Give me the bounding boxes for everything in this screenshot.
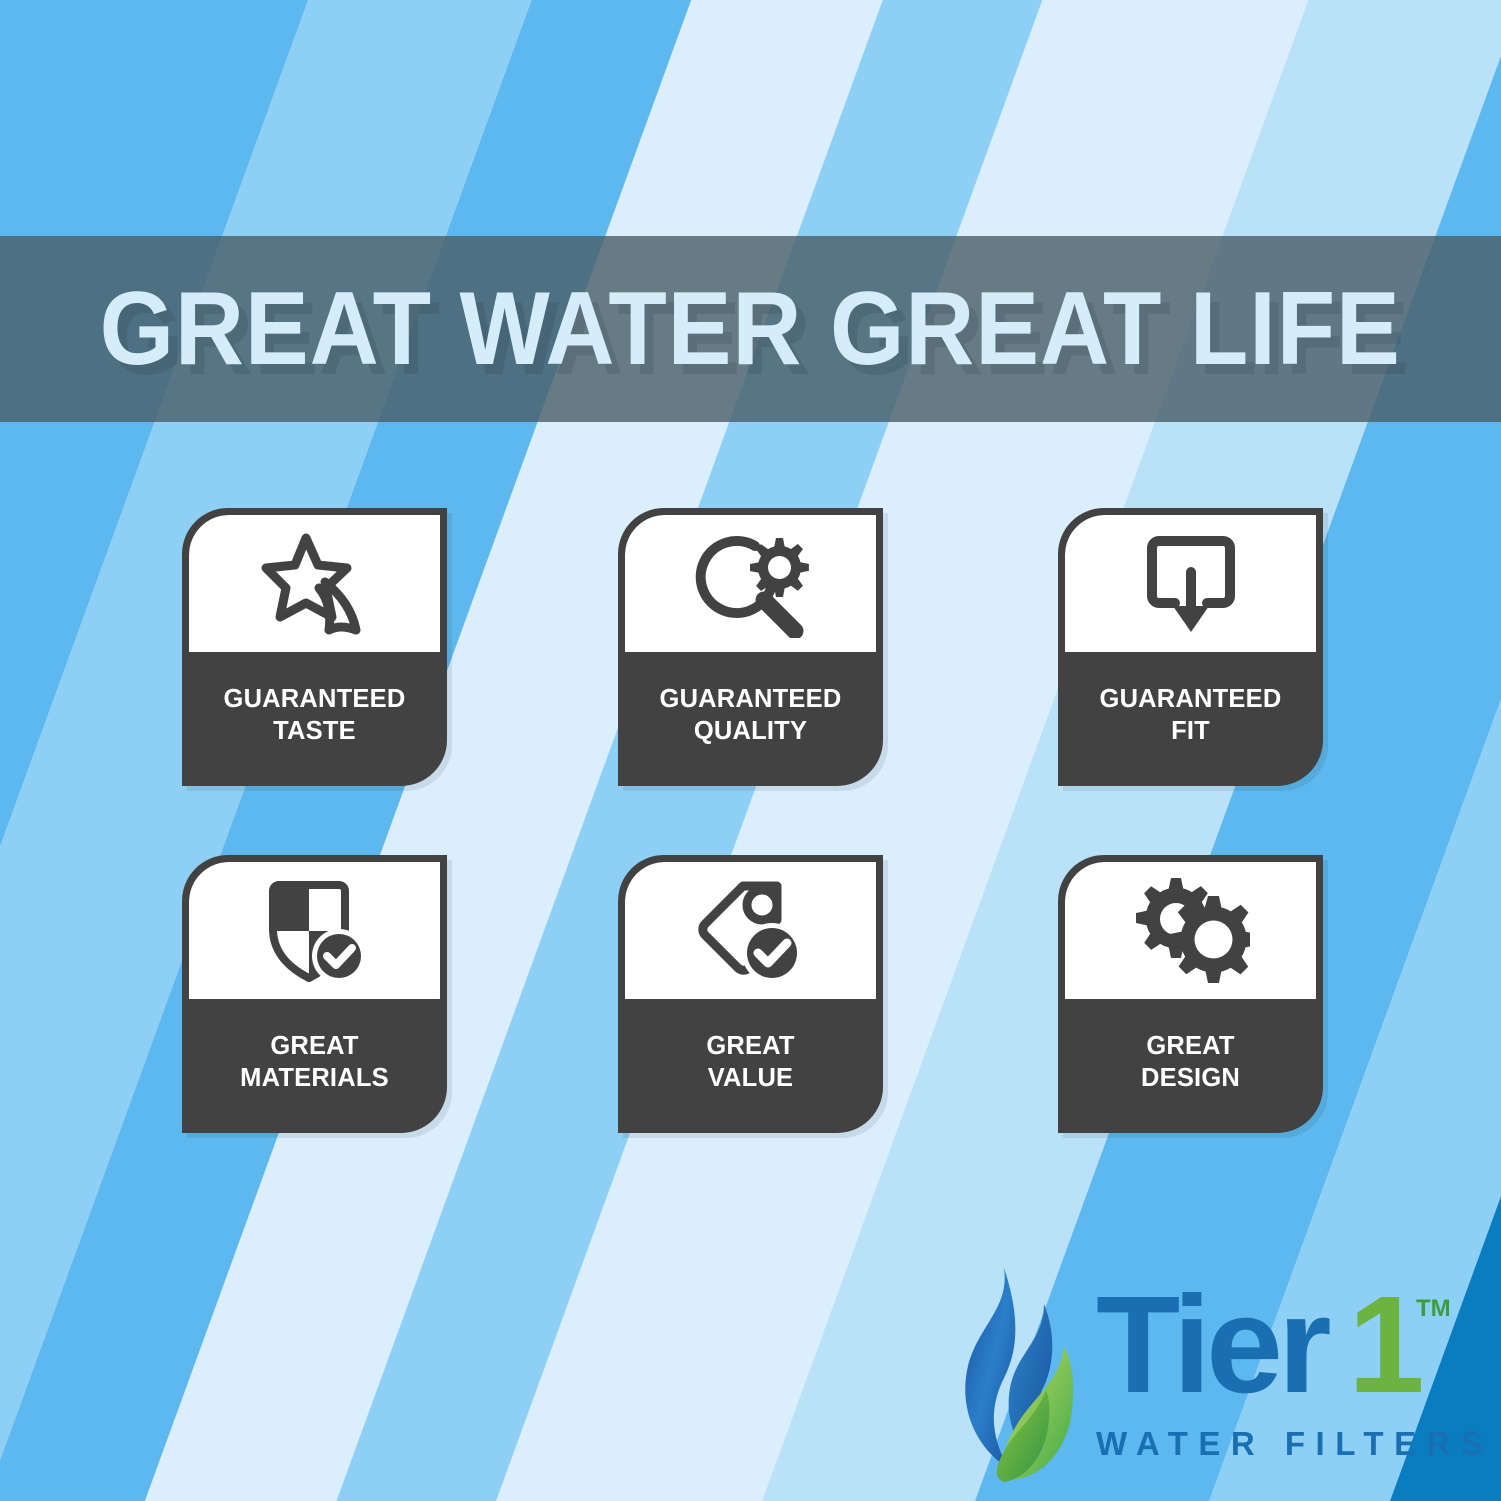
badge-great-materials[interactable]: GREAT MATERIALS xyxy=(182,855,447,1133)
water-flame-leaf-droplet-icon xyxy=(952,1262,1088,1484)
svg-text:TM: TM xyxy=(1416,1295,1451,1322)
badge-row-2: GREAT MATERIALS xyxy=(0,855,1501,1202)
badge-label-line1: GREAT xyxy=(1146,1031,1234,1062)
badge-label: GUARANTEED QUALITY xyxy=(625,652,876,779)
headline-banner: GREAT WATER GREAT LIFE xyxy=(0,236,1501,422)
badge-label-line1: GREAT xyxy=(270,1031,358,1062)
badge-label-line1: GUARANTEED xyxy=(660,684,842,715)
badge-label: GUARANTEED TASTE xyxy=(189,652,440,779)
badge-icon-panel xyxy=(625,515,876,652)
badge-label: GUARANTEED FIT xyxy=(1065,652,1316,779)
badge-row-1: GUARANTEED TASTE xyxy=(0,508,1501,855)
headline-text: GREAT WATER GREAT LIFE xyxy=(100,277,1401,381)
logo-tagline: WATER FILTERS xyxy=(1096,1425,1495,1462)
tier1-logo: Tier 1 TM WATER FILTERS xyxy=(952,1262,1452,1484)
price-tag-check-icon xyxy=(694,877,808,985)
badge-label-line2: FIT xyxy=(1171,716,1210,747)
gears-icon xyxy=(1132,877,1250,985)
badge-icon-panel xyxy=(189,862,440,999)
badge-icon-panel xyxy=(1065,862,1316,999)
badge-label-line2: DESIGN xyxy=(1141,1063,1240,1094)
badge-label-line1: GUARANTEED xyxy=(1100,684,1282,715)
badge-label: GREAT VALUE xyxy=(625,999,876,1126)
badge-label: GREAT DESIGN xyxy=(1065,999,1316,1126)
badge-great-value[interactable]: GREAT VALUE xyxy=(618,855,883,1133)
badge-label-line2: VALUE xyxy=(708,1063,794,1094)
poster-canvas: GREAT WATER GREAT LIFE xyxy=(0,0,1501,1501)
badge-guaranteed-quality[interactable]: GUARANTEED QUALITY xyxy=(618,508,883,786)
svg-text:1: 1 xyxy=(1348,1280,1425,1422)
badge-great-design[interactable]: GREAT DESIGN xyxy=(1058,855,1323,1133)
badge-icon-panel xyxy=(189,515,440,652)
badge-guaranteed-fit[interactable]: GUARANTEED FIT xyxy=(1058,508,1323,786)
shooting-star-icon xyxy=(257,530,373,638)
logo-text-block: Tier 1 TM WATER FILTERS xyxy=(1096,1262,1495,1463)
badge-label-line1: GREAT xyxy=(706,1031,794,1062)
badge-label-line2: TASTE xyxy=(273,716,356,747)
magnifier-gear-icon xyxy=(692,530,810,638)
badge-icon-panel xyxy=(1065,515,1316,652)
badge-icon-panel xyxy=(625,862,876,999)
feature-badge-grid: GUARANTEED TASTE xyxy=(0,508,1501,1202)
svg-text:Tier: Tier xyxy=(1096,1280,1330,1422)
badge-label-line2: MATERIALS xyxy=(240,1063,389,1094)
download-fit-icon xyxy=(1139,530,1243,638)
badge-label-line2: QUALITY xyxy=(694,716,807,747)
badge-label: GREAT MATERIALS xyxy=(189,999,440,1126)
badge-guaranteed-taste[interactable]: GUARANTEED TASTE xyxy=(182,508,447,786)
logo-wordmark: Tier 1 TM xyxy=(1096,1280,1495,1425)
shield-check-icon xyxy=(261,877,369,985)
badge-label-line1: GUARANTEED xyxy=(224,684,406,715)
